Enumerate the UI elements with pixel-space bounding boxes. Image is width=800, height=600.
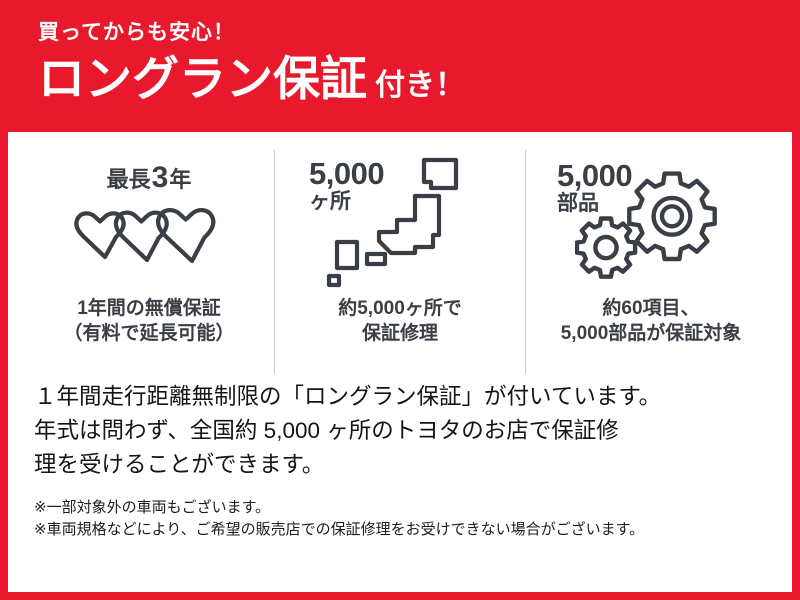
feature-covered-parts-art: 5,000 部品 — [530, 150, 772, 296]
covered-parts-badge: 5,000 部品 — [557, 160, 632, 214]
body-copy-line3: 理を受けることができます。 — [34, 448, 766, 482]
footnote-2: ※車両規格などにより、ご希望の販売店での保証修理をお受けできない場合がございます… — [34, 519, 766, 541]
covered-parts-badge-number: 5,000 — [557, 160, 632, 192]
max-term-badge-prefix: 最長 — [107, 162, 151, 194]
feature-covered-parts: 5,000 部品 — [525, 150, 776, 374]
service-locations-badge-unit: ヶ所 — [309, 191, 384, 212]
body-copy-line2: 年式は問わず、全国約 5,000 ヶ所のトヨタのお店で保証修 — [34, 414, 766, 448]
header-kicker: 買ってからも安心！ — [38, 22, 792, 43]
feature-max-term: 最長 3 年 — [24, 150, 274, 374]
feature-covered-parts-caption-line2: 5,000部品が保証対象 — [561, 321, 742, 346]
feature-max-term-caption: 1年間の無償保証 （有料で延長可能） — [63, 296, 234, 346]
feature-service-locations: 5,000 ヶ所 — [274, 150, 525, 374]
feature-service-locations-caption: 約5,000ヶ所で 保証修理 — [338, 296, 462, 346]
poster-header: 買ってからも安心！ ロングラン保証 付き！ — [8, 0, 792, 132]
feature-max-term-caption-line2: （有料で延長可能） — [63, 321, 234, 346]
feature-covered-parts-caption-line1: 約60項目、 — [561, 296, 742, 321]
feature-covered-parts-caption: 約60項目、 5,000部品が保証対象 — [561, 296, 742, 346]
service-locations-badge-number: 5,000 — [309, 158, 384, 190]
feature-max-term-caption-line1: 1年間の無償保証 — [63, 296, 234, 321]
footnotes: ※一部対象外の車両もございます。 ※車両規格などにより、ご希望の販売店での保証修… — [8, 483, 792, 541]
header-title-main: ロングラン保証 — [38, 55, 367, 102]
feature-service-locations-art: 5,000 ヶ所 — [279, 150, 521, 296]
service-locations-badge: 5,000 ヶ所 — [309, 158, 384, 212]
body-copy-line1: １年間走行距離無制限の「ロングラン保証」が付いています。 — [34, 380, 766, 414]
covered-parts-badge-unit: 部品 — [557, 193, 632, 214]
feature-columns: 最長 3 年 — [8, 132, 792, 374]
content-sheet: 最長 3 年 — [8, 132, 792, 592]
feature-max-term-art: 最長 3 年 — [28, 150, 270, 296]
max-term-badge: 最長 3 年 — [107, 161, 192, 195]
body-copy: １年間走行距離無制限の「ロングラン保証」が付いています。 年式は問わず、全国約 … — [8, 374, 792, 483]
feature-service-locations-caption-line2: 保証修理 — [338, 321, 462, 346]
header-title: ロングラン保証 付き！ — [38, 55, 792, 102]
longrun-warranty-poster: 買ってからも安心！ ロングラン保証 付き！ 最長 3 年 — [0, 0, 800, 600]
max-term-badge-suffix: 年 — [169, 162, 191, 194]
header-title-suffix: 付き！ — [375, 71, 465, 101]
three-hearts-icon — [64, 197, 234, 263]
max-term-badge-number: 3 — [152, 161, 169, 195]
footnote-1: ※一部対象外の車両もございます。 — [34, 497, 766, 519]
feature-service-locations-caption-line1: 約5,000ヶ所で — [338, 296, 462, 321]
